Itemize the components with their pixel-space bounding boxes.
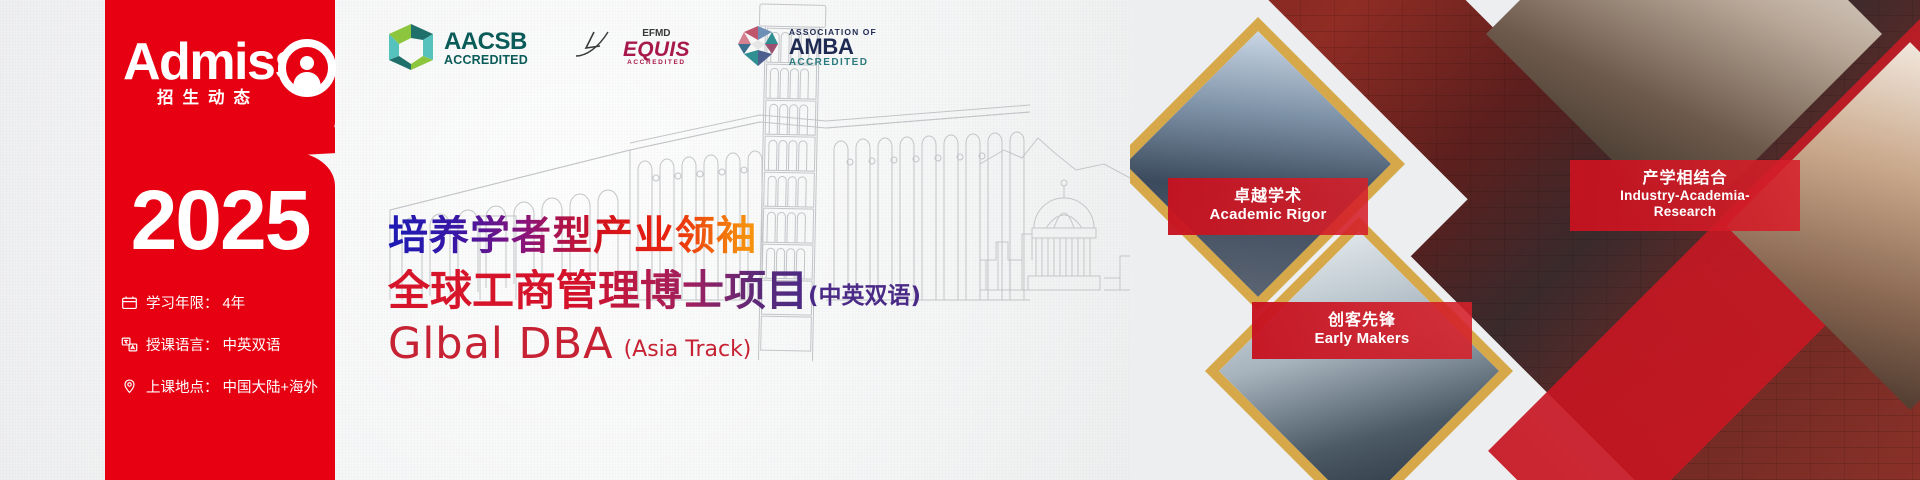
program-title-en: Glbal DBA <box>388 323 614 366</box>
program-info-list: 学习年限： 4年 授课语言： 中英双语 <box>121 292 335 418</box>
equis-sub-text: ACCREDITED <box>623 60 690 67</box>
aacsb-accreditation: AACSB ACCREDITED <box>385 20 528 77</box>
admission-logo: Admissi 招生动态 <box>105 30 405 110</box>
amba-diamond-logo <box>734 22 782 75</box>
aacsb-sub-text: ACCREDITED <box>444 54 528 67</box>
aacsb-main-text: AACSB <box>444 30 528 54</box>
info-row-location: 上课地点： 中国大陆+海外 <box>121 376 335 397</box>
badge-industry-cn: 产学相结合 <box>1588 169 1782 188</box>
amba-accreditation: ASSOCIATION OF AMBA ACCREDITED <box>734 22 877 75</box>
left-red-panel: Admissi 招生动态 2025 学习年限： 4年 <box>105 0 335 480</box>
info-text-location: 上课地点： 中国大陆+海外 <box>146 376 318 397</box>
info-text-language: 授课语言： 中英双语 <box>146 334 281 355</box>
amba-main-text: AMBA <box>789 37 877 58</box>
admission-banner: Admissi 招生动态 2025 学习年限： 4年 <box>0 0 1920 480</box>
program-title-line: 全球工商管理博士项目 (中英双语) <box>388 269 921 313</box>
program-title-en-line: Glbal DBA (Asia Track) <box>388 323 921 366</box>
equis-accreditation: EFMD EQUIS ACCREDITED <box>572 26 690 71</box>
language-icon <box>121 336 138 353</box>
headline-block: 培养学者型产业领袖 全球工商管理博士项目 (中英双语) Glbal DBA (A… <box>388 215 921 366</box>
info-row-language: 授课语言： 中英双语 <box>121 334 335 355</box>
info-row-duration: 学习年限： 4年 <box>121 292 335 313</box>
badge-early-makers: 创客先锋 Early Makers <box>1252 302 1472 359</box>
aacsb-square-logo <box>385 20 437 77</box>
program-track-note: (Asia Track) <box>614 337 752 366</box>
badge-academic-cn: 卓越学术 <box>1186 187 1350 206</box>
admission-chinese-label: 招生动态 <box>157 84 259 108</box>
info-text-duration: 学习年限： 4年 <box>146 292 245 313</box>
badge-academic-rigor: 卓越学术 Academic Rigor <box>1168 178 1368 235</box>
badge-makers-cn: 创客先锋 <box>1270 311 1454 330</box>
program-title-cn: 全球工商管理博士项目 <box>388 269 808 313</box>
calendar-icon <box>121 294 138 311</box>
amba-sub-text: ACCREDITED <box>789 58 877 68</box>
badge-makers-en: Early Makers <box>1270 330 1454 348</box>
equis-main-text: EQUIS <box>623 39 690 60</box>
badge-industry-academia: 产学相结合 Industry-Academia- Research <box>1570 160 1800 231</box>
program-bilingual-note: (中英双语) <box>808 276 921 313</box>
year-label: 2025 <box>105 178 335 262</box>
tagline: 培养学者型产业领袖 <box>388 215 921 257</box>
photo-collage: 卓越学术 Academic Rigor 产学相结合 Industry-Acade… <box>1130 0 1920 480</box>
accreditation-logos: AACSB ACCREDITED EFMD EQUIS ACCREDITED <box>385 20 877 76</box>
badge-industry-en-line1: Industry-Academia- <box>1588 188 1782 204</box>
efmd-swoosh-logo <box>572 26 616 71</box>
badge-industry-en-line2: Research <box>1588 204 1782 220</box>
location-pin-icon <box>121 378 138 395</box>
badge-academic-en: Academic Rigor <box>1186 206 1350 224</box>
person-in-circle-icon <box>278 39 336 97</box>
